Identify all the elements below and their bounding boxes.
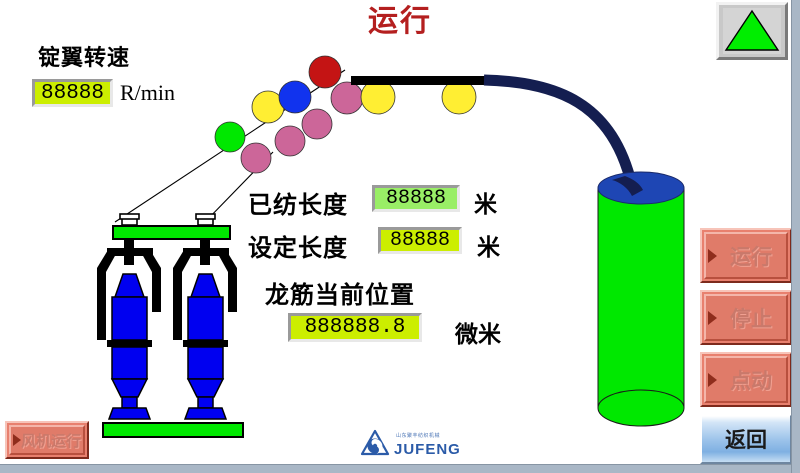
set-length-value: 88888 xyxy=(378,227,462,254)
back-button-label: 返回 xyxy=(725,424,767,454)
rail-position-unit: 微米 xyxy=(455,315,501,349)
jog-button-label: 点动 xyxy=(702,354,790,405)
set-length-unit: 米 xyxy=(477,228,500,262)
set-length-label: 设定长度 xyxy=(248,228,348,263)
logo-subtitle: 山东聚丰纺织机械 xyxy=(396,432,440,439)
rail-position-value: 888888.8 xyxy=(288,313,422,342)
back-button[interactable]: 返回 xyxy=(700,414,792,464)
window-bottom-strip xyxy=(0,464,800,473)
flyer-speed-value: 88888 xyxy=(32,79,113,107)
stop-button[interactable]: 停止 xyxy=(700,290,792,345)
hmi-screen: 运行 xyxy=(0,0,800,473)
spun-length-label: 已纺长度 xyxy=(248,185,348,220)
rail-position-label: 龙筋当前位置 xyxy=(265,275,415,310)
run-button[interactable]: 运行 xyxy=(700,228,792,283)
flyer-speed-unit: R/min xyxy=(120,80,175,106)
logo-brand: JUFENG xyxy=(394,441,461,458)
stop-button-label: 停止 xyxy=(702,292,790,343)
run-button-label: 运行 xyxy=(702,230,790,281)
spun-length-unit: 米 xyxy=(474,185,497,219)
company-logo: 山东聚丰纺织机械 JUFENG xyxy=(358,428,468,462)
spun-length-value: 88888 xyxy=(372,185,460,212)
jog-button[interactable]: 点动 xyxy=(700,352,792,407)
fan-run-button[interactable]: 风机运行 xyxy=(5,421,89,459)
swirl-icon xyxy=(358,428,392,460)
window-right-strip xyxy=(791,0,800,473)
fan-run-button-label: 风机运行 xyxy=(7,423,87,457)
flyer-speed-label: 锭翼转速 xyxy=(38,40,130,72)
